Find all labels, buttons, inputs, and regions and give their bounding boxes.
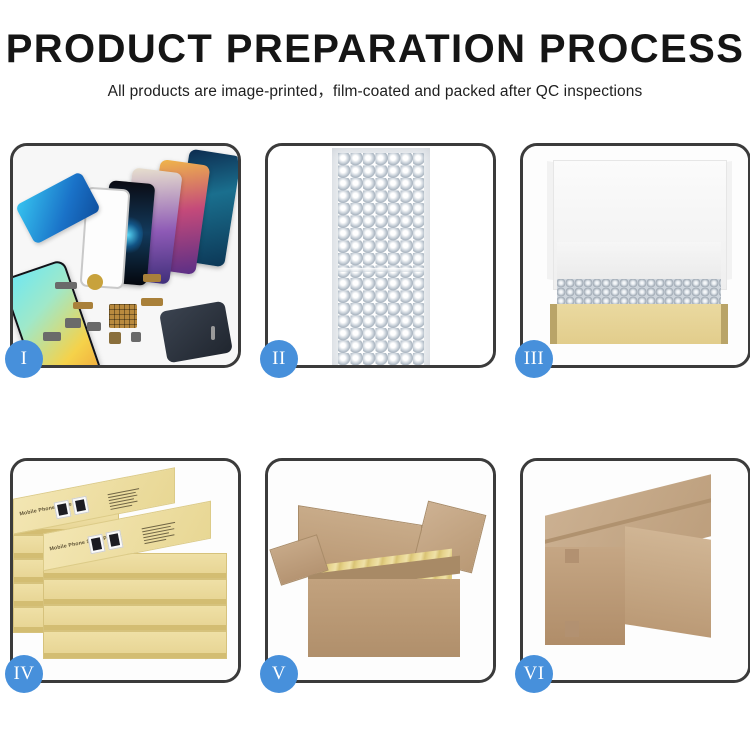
kraft-box-body xyxy=(550,304,728,344)
sim-tray xyxy=(109,332,121,344)
box-product-image-b2 xyxy=(105,530,123,551)
flex-cable-1 xyxy=(143,274,161,282)
page-title: PRODUCT PREPARATION PROCESS xyxy=(0,28,750,70)
inner-box-illustration xyxy=(523,146,748,365)
process-step-3: III xyxy=(520,143,750,368)
screwdriver-bit xyxy=(211,326,215,340)
camera-module xyxy=(65,318,81,328)
carton-side-face xyxy=(625,526,711,638)
carton-tape-upper xyxy=(565,549,579,563)
flex-cable-2 xyxy=(141,298,163,306)
step-badge-3: III xyxy=(515,340,553,378)
carton-front-face xyxy=(308,579,460,657)
kraft-box-edge-right xyxy=(721,304,728,344)
small-screw-set xyxy=(131,332,141,342)
stacked-box-r2 xyxy=(43,579,227,605)
step-badge-6: VI xyxy=(515,655,553,693)
button-flex xyxy=(43,332,61,341)
step-badge-5: V xyxy=(260,655,298,693)
stacked-box-r3 xyxy=(43,605,227,631)
phones-and-parts-illustration xyxy=(13,146,238,365)
step-1-image xyxy=(13,146,238,365)
bubble-texture xyxy=(338,153,424,365)
process-step-6: VI xyxy=(520,458,750,683)
box-stack: Mobile Phone Spare Parts Mobile Phone Sp… xyxy=(13,469,238,680)
bubble-wrap-illustration xyxy=(268,146,493,365)
speaker-coil xyxy=(87,274,103,290)
kraft-box-edge-left xyxy=(550,304,557,344)
step-badge-2: II xyxy=(260,340,298,378)
process-step-4: Mobile Phone Spare Parts Mobile Phone Sp… xyxy=(10,458,241,683)
infographic-page: PRODUCT PREPARATION PROCESS All products… xyxy=(0,0,750,750)
step-2-image xyxy=(268,146,493,365)
page-subtitle: All products are image-printed，film-coat… xyxy=(0,79,750,101)
stacked-box-r4 xyxy=(43,631,227,659)
step-4-image: Mobile Phone Spare Parts Mobile Phone Sp… xyxy=(13,461,238,680)
flex-cable-3 xyxy=(73,302,93,309)
bubble-wrap-seam xyxy=(338,268,424,272)
header: PRODUCT PREPARATION PROCESS All products… xyxy=(0,0,750,101)
step-5-image xyxy=(268,461,493,680)
step-3-image xyxy=(523,146,748,365)
battery-connector xyxy=(55,282,77,289)
box-stack-illustration: Mobile Phone Spare Parts Mobile Phone Sp… xyxy=(13,461,238,680)
chip-array xyxy=(109,304,137,328)
carton-loading-illustration xyxy=(268,461,493,680)
step-6-image xyxy=(523,461,748,680)
process-step-5: V xyxy=(265,458,496,683)
process-step-2: II xyxy=(265,143,496,368)
process-grid: I II xyxy=(10,143,740,683)
bubble-wrapped-contents xyxy=(557,279,721,307)
box-product-image-a2 xyxy=(72,496,90,516)
bubble-wrapped-product xyxy=(332,148,430,365)
step-badge-1: I xyxy=(5,340,43,378)
phone-back-housing xyxy=(159,301,233,364)
box-product-image-a1 xyxy=(54,500,72,520)
carton-front-face xyxy=(545,547,625,645)
vibration-motor xyxy=(87,322,101,331)
sealed-carton-illustration xyxy=(523,461,748,680)
step-badge-4: IV xyxy=(5,655,43,693)
process-step-1: I xyxy=(10,143,241,368)
carton-tape-lower xyxy=(565,621,579,637)
box-product-image-b1 xyxy=(87,534,105,555)
